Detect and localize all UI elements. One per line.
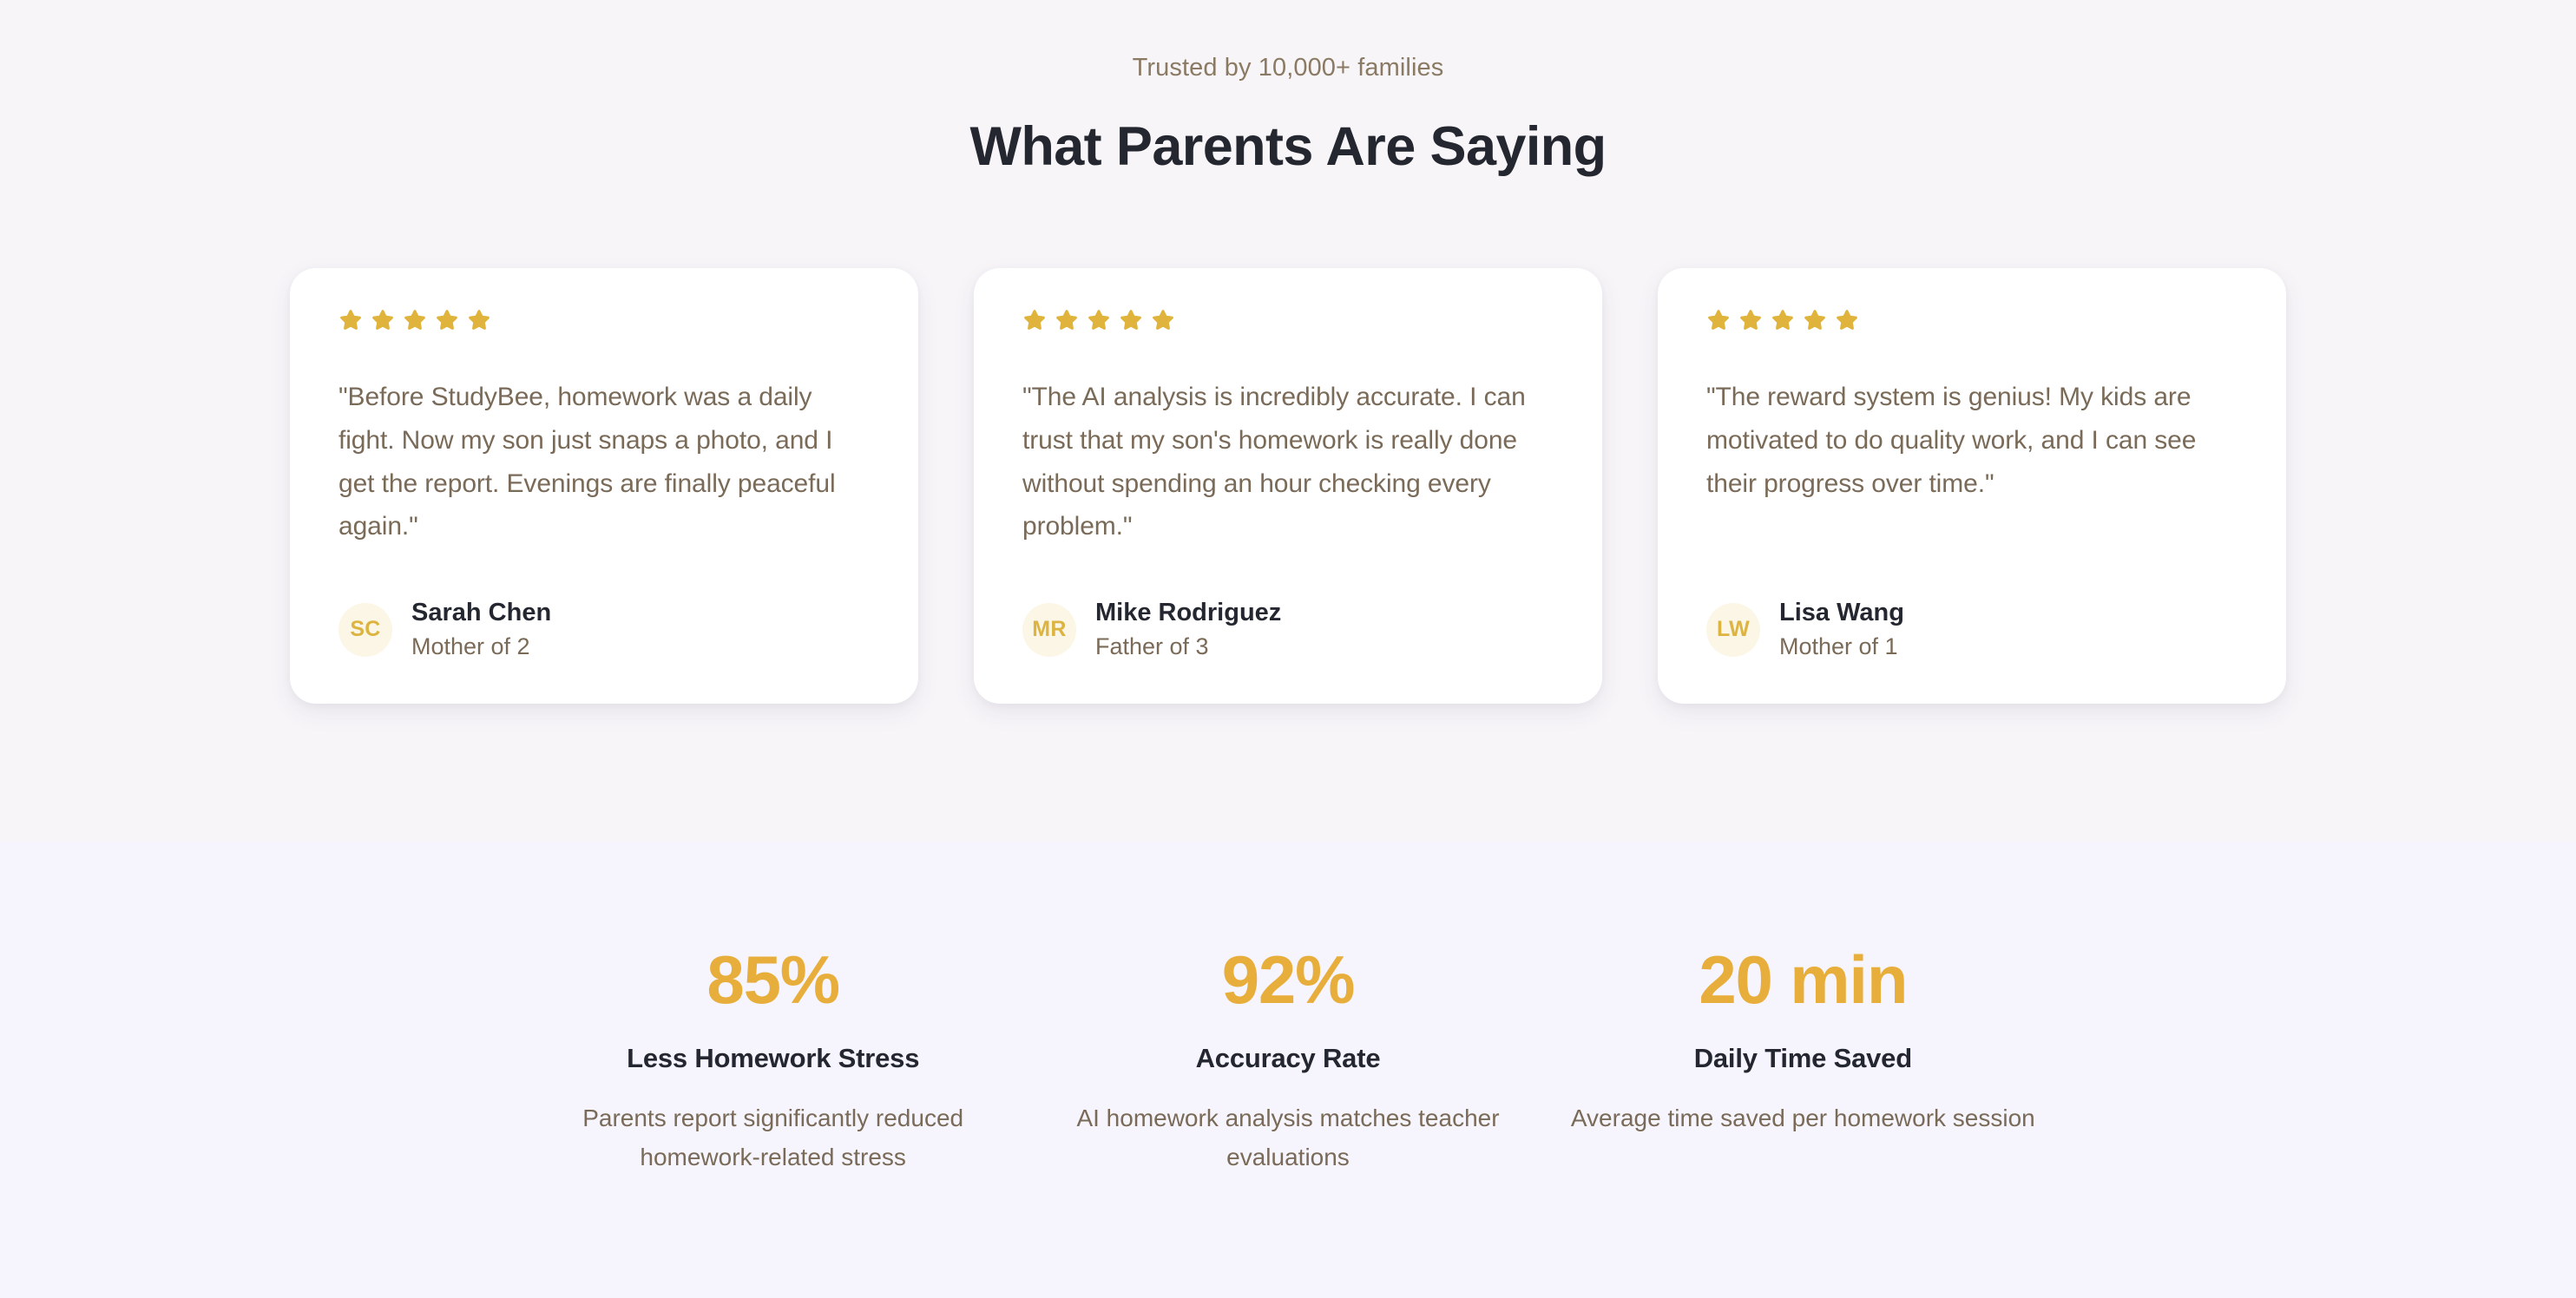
testimonial-quote: "The reward system is genius! My kids ar… — [1706, 376, 2238, 505]
stat-value: 20 min — [1567, 946, 2040, 1013]
stats-section: 85% Less Homework Stress Parents report … — [0, 842, 2576, 1298]
star-filled-icon — [371, 308, 395, 332]
star-filled-icon — [1771, 308, 1795, 332]
stat-item: 92% Accuracy Rate AI homework analysis m… — [1030, 946, 1545, 1177]
section-eyebrow: Trusted by 10,000+ families — [0, 54, 2576, 82]
star-filled-icon — [338, 308, 363, 332]
star-rating — [338, 308, 870, 332]
stat-description: Parents report significantly reduced hom… — [536, 1098, 1009, 1177]
stat-item: 85% Less Homework Stress Parents report … — [516, 946, 1030, 1177]
testimonials-page: Trusted by 10,000+ families What Parents… — [0, 0, 2576, 1298]
testimonial-card: "The reward system is genius! My kids ar… — [1658, 268, 2286, 704]
stat-label: Less Homework Stress — [536, 1043, 1009, 1074]
stat-item: 20 min Daily Time Saved Average time sav… — [1546, 946, 2060, 1177]
testimonial-quote: "Before StudyBee, homework was a daily f… — [338, 376, 870, 548]
testimonials-section: Trusted by 10,000+ families What Parents… — [0, 0, 2576, 842]
stat-description: AI homework analysis matches teacher eva… — [1051, 1098, 1524, 1177]
stat-label: Accuracy Rate — [1051, 1043, 1524, 1074]
star-filled-icon — [1119, 308, 1143, 332]
author-name: Mike Rodriguez — [1095, 597, 1281, 629]
testimonial-card: "Before StudyBee, homework was a daily f… — [290, 268, 918, 704]
star-filled-icon — [1151, 308, 1175, 332]
star-filled-icon — [403, 308, 427, 332]
testimonial-author: SC Sarah Chen Mother of 2 — [338, 548, 870, 662]
star-filled-icon — [1835, 308, 1859, 332]
stat-value: 92% — [1051, 946, 1524, 1013]
testimonial-card-list: "Before StudyBee, homework was a daily f… — [290, 268, 2286, 704]
avatar: MR — [1022, 603, 1076, 657]
author-role: Father of 3 — [1095, 632, 1281, 662]
star-filled-icon — [435, 308, 459, 332]
testimonial-author: MR Mike Rodriguez Father of 3 — [1022, 548, 1554, 662]
page-title: What Parents Are Saying — [0, 115, 2576, 178]
stat-label: Daily Time Saved — [1567, 1043, 2040, 1074]
avatar: SC — [338, 603, 392, 657]
star-filled-icon — [1706, 308, 1731, 332]
star-filled-icon — [1738, 308, 1763, 332]
author-name: Lisa Wang — [1779, 597, 1904, 629]
star-filled-icon — [467, 308, 491, 332]
star-filled-icon — [1803, 308, 1827, 332]
star-rating — [1706, 308, 2238, 332]
author-name: Sarah Chen — [411, 597, 551, 629]
star-rating — [1022, 308, 1554, 332]
star-filled-icon — [1055, 308, 1079, 332]
star-filled-icon — [1022, 308, 1047, 332]
stat-description: Average time saved per homework session — [1567, 1098, 2040, 1137]
author-role: Mother of 2 — [411, 632, 551, 662]
testimonial-card: "The AI analysis is incredibly accurate.… — [974, 268, 1602, 704]
author-role: Mother of 1 — [1779, 632, 1904, 662]
testimonial-quote: "The AI analysis is incredibly accurate.… — [1022, 376, 1554, 548]
stats-list: 85% Less Homework Stress Parents report … — [516, 946, 2060, 1177]
star-filled-icon — [1087, 308, 1111, 332]
stat-value: 85% — [536, 946, 1009, 1013]
avatar: LW — [1706, 603, 1760, 657]
testimonial-author: LW Lisa Wang Mother of 1 — [1706, 548, 2238, 662]
